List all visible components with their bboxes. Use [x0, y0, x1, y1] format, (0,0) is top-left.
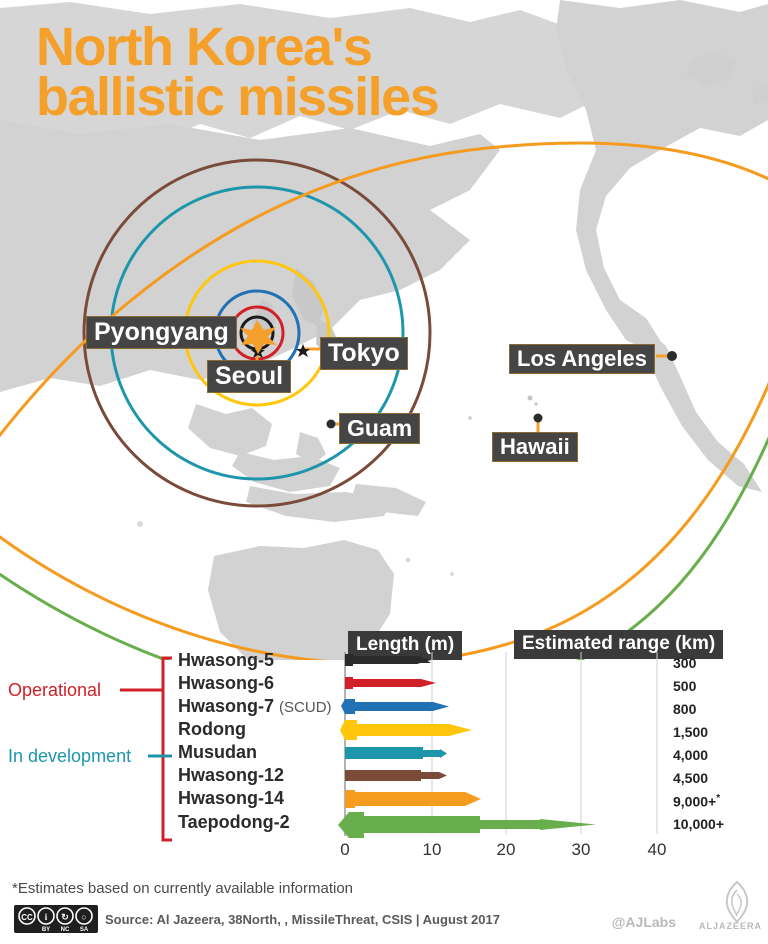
- svg-text:NC: NC: [61, 927, 70, 933]
- missile-bar-hwasong-6[interactable]: [345, 677, 436, 689]
- x-tick-30: 30: [572, 840, 591, 860]
- missile-chart: Length (m) Estimated range (km): [0, 600, 768, 880]
- range-value-hwasong-7: 800: [673, 701, 696, 717]
- infographic-root: Pyongyang Seoul Tokyo Guam Los Angeles H…: [0, 0, 768, 944]
- missile-name-taepodong-2[interactable]: Taepodong-2: [178, 812, 290, 833]
- range-value-hwasong-12: 4,500: [673, 770, 708, 786]
- range-value-rodong: 1,500: [673, 724, 708, 740]
- x-tick-0: 0: [340, 840, 349, 860]
- range-text: 4,000: [673, 747, 708, 763]
- svg-text:SA: SA: [80, 927, 89, 933]
- range-asterisk: *: [716, 793, 720, 804]
- range-value-hwasong-6: 500: [673, 678, 696, 694]
- chart-svg: [0, 600, 768, 880]
- range-value-musudan: 4,000: [673, 747, 708, 763]
- map-label-tokyo[interactable]: Tokyo: [320, 337, 408, 370]
- range-text: 300: [673, 655, 696, 671]
- range-text: 10,000+: [673, 816, 724, 832]
- svg-text:↻: ↻: [61, 912, 69, 922]
- missile-bar-hwasong-7[interactable]: [341, 699, 449, 714]
- hawaii-dot-marker: [534, 414, 543, 423]
- range-value-taepodong-2: 10,000+: [673, 816, 724, 832]
- footer: *Estimates based on currently available …: [0, 872, 768, 944]
- source-credit: Source: Al Jazeera, 38North, , MissileTh…: [105, 912, 500, 927]
- svg-text:CC: CC: [21, 913, 33, 922]
- missile-name-hwasong-7[interactable]: Hwasong-7 (SCUD): [178, 696, 332, 717]
- map-label-los-angeles[interactable]: Los Angeles: [509, 344, 655, 374]
- missile-label-text: Hwasong-7: [178, 696, 274, 716]
- ajlabs-handle: @AJLabs: [612, 914, 676, 930]
- x-gridlines: [432, 652, 657, 834]
- missile-bar-hwasong-14[interactable]: [345, 790, 481, 808]
- page-title: North Korea's ballistic missiles: [36, 22, 438, 122]
- missile-name-musudan[interactable]: Musudan: [178, 742, 257, 763]
- al-jazeera-logo-icon: [714, 880, 760, 924]
- missile-name-hwasong-14[interactable]: Hwasong-14: [178, 788, 284, 809]
- x-tick-10: 10: [423, 840, 442, 860]
- group-label-operational: Operational: [8, 680, 101, 701]
- x-tick-20: 20: [497, 840, 516, 860]
- footnote-estimates: *Estimates based on currently available …: [12, 880, 353, 897]
- missile-label-text: Rodong: [178, 719, 246, 739]
- missile-bar-rodong[interactable]: [340, 720, 472, 740]
- range-text: 500: [673, 678, 696, 694]
- range-value-hwasong-14: 9,000+*: [673, 793, 720, 810]
- los-angeles-dot-marker: [667, 351, 677, 361]
- missile-label-text: Hwasong-5: [178, 650, 274, 670]
- map-label-seoul[interactable]: Seoul: [207, 360, 291, 393]
- range-text: 1,500: [673, 724, 708, 740]
- missile-bar-taepodong-2[interactable]: [338, 812, 596, 838]
- bracket-all: [163, 658, 172, 840]
- missile-label-text: Hwasong-14: [178, 788, 284, 808]
- range-text: 9,000+: [673, 794, 716, 810]
- creative-commons-badge[interactable]: CC i ↻ ○ BY NC SA: [14, 905, 98, 933]
- range-text: 4,500: [673, 770, 708, 786]
- map-label-pyongyang[interactable]: Pyongyang: [86, 316, 237, 349]
- al-jazeera-wordmark: ALJAZEERA: [699, 921, 762, 931]
- group-label-in-development: In development: [8, 746, 131, 767]
- range-text: 800: [673, 701, 696, 717]
- missile-name-rodong[interactable]: Rodong: [178, 719, 246, 740]
- svg-text:○: ○: [81, 912, 86, 922]
- missile-label-subtext: (SCUD): [279, 699, 332, 716]
- map-label-hawaii[interactable]: Hawaii: [492, 432, 578, 462]
- missile-label-text: Hwasong-6: [178, 673, 274, 693]
- missile-name-hwasong-6[interactable]: Hwasong-6: [178, 673, 274, 694]
- missile-bar-hwasong-5[interactable]: [345, 654, 431, 666]
- map-label-guam[interactable]: Guam: [339, 413, 420, 444]
- missile-name-hwasong-5[interactable]: Hwasong-5: [178, 650, 274, 671]
- svg-text:BY: BY: [42, 927, 50, 933]
- missile-label-text: Musudan: [178, 742, 257, 762]
- missile-bars: [338, 654, 596, 838]
- x-tick-40: 40: [648, 840, 667, 860]
- guam-dot-marker: [327, 420, 336, 429]
- missile-name-hwasong-12[interactable]: Hwasong-12: [178, 765, 284, 786]
- range-value-hwasong-5: 300: [673, 655, 696, 671]
- missile-label-text: Taepodong-2: [178, 812, 290, 832]
- missile-label-text: Hwasong-12: [178, 765, 284, 785]
